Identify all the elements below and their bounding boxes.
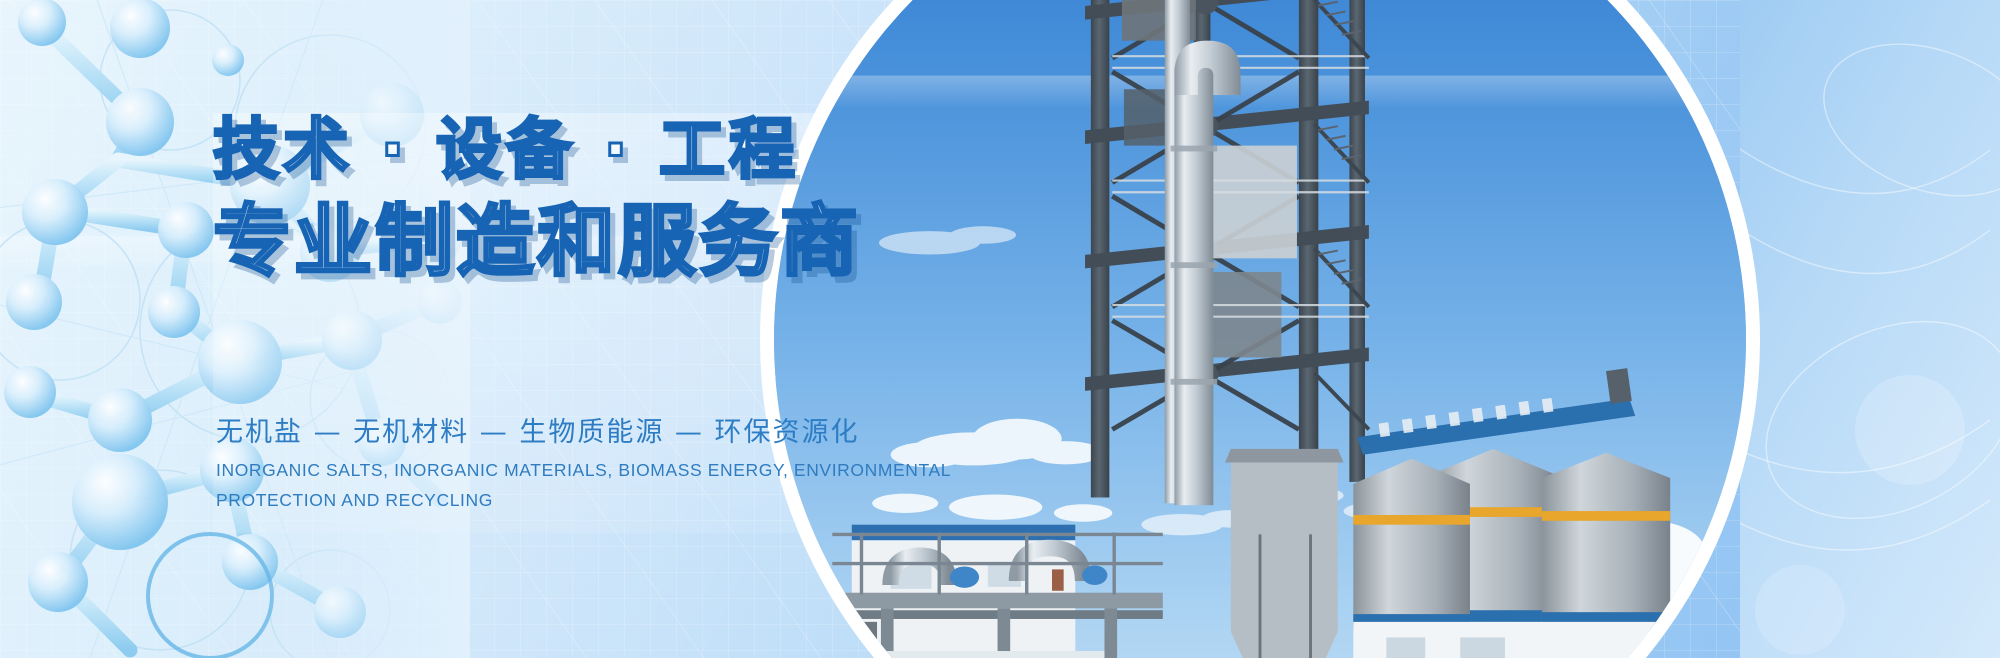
subtitle-english-line-2: PROTECTION AND RECYCLING xyxy=(216,485,776,515)
photo-sky xyxy=(774,0,1746,658)
subtitle-chinese: 无机盐 — 无机材料 — 生物质能源 — 环保资源化 xyxy=(216,410,860,449)
headline-line-2: 专业制造和服务商 xyxy=(213,194,973,290)
industrial-plant-illustration xyxy=(774,0,1746,658)
hero-banner: 技术 · 设备 · 工程 专业制造和服务商 无机盐 — 无机材料 — 生物质能源… xyxy=(0,0,2000,658)
photo-clip xyxy=(774,0,1746,658)
molecule-decoration xyxy=(0,0,470,658)
molecule-icon xyxy=(0,0,470,658)
headline-block: 技术 · 设备 · 工程 专业制造和服务商 xyxy=(213,108,973,290)
industrial-photo xyxy=(760,0,1760,658)
subtitle-english-line-1: INORGANIC SALTS, INORGANIC MATERIALS, BI… xyxy=(216,455,776,485)
subtitle-english: INORGANIC SALTS, INORGANIC MATERIALS, BI… xyxy=(216,455,776,515)
plant-building-left xyxy=(832,525,1162,658)
right-background xyxy=(1740,0,2000,658)
headline-line-1: 技术 · 设备 · 工程 xyxy=(213,108,973,192)
